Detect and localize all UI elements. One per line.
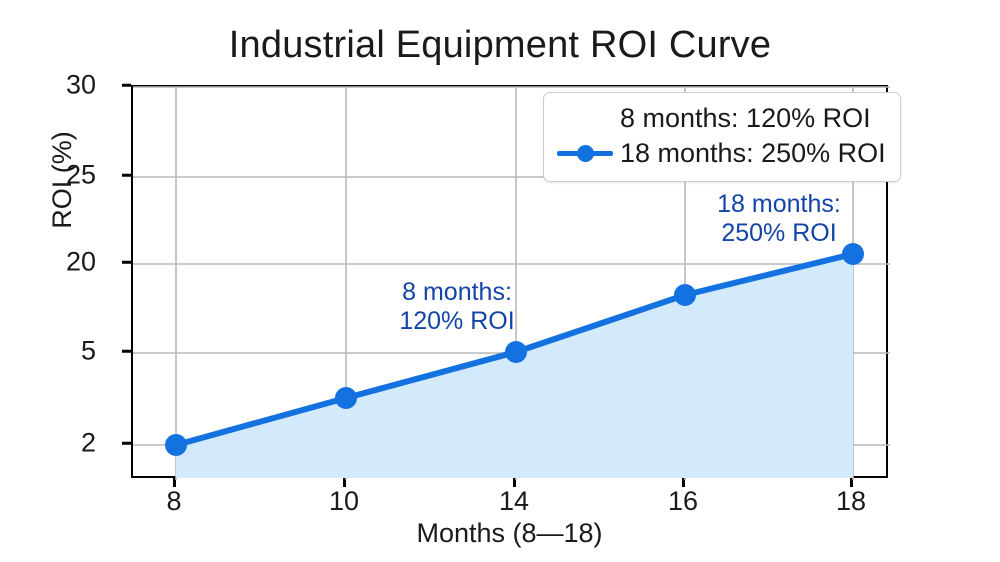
y-tick-mark-20 (122, 261, 131, 264)
x-tick-label-14: 14 (454, 486, 574, 517)
y-tick-label-5: 5 (0, 336, 112, 367)
data-point-16[interactable] (674, 284, 696, 306)
x-tick-label-8: 8 (114, 486, 234, 517)
y-axis-title-wrapper: ROI (%) (42, 80, 82, 280)
data-point-14[interactable] (505, 341, 527, 363)
y-tick-mark-30 (122, 84, 131, 87)
chart-title: Industrial Equipment ROI Curve (0, 24, 1000, 67)
legend-item-1[interactable]: 18 months: 250% ROI (554, 136, 886, 171)
y-axis-title: ROI (%) (47, 131, 78, 229)
y-tick-mark-5 (122, 350, 131, 353)
chart-figure: Industrial Equipment ROI Curve 30 25 20 … (0, 0, 1000, 562)
x-tick-label-10: 10 (284, 486, 404, 517)
legend-handle-line-marker-icon (554, 141, 616, 167)
annotation-8-months: 8 months: 120% ROI (399, 278, 514, 336)
legend-handle-blank (554, 106, 616, 132)
annotation-18-months: 18 months: 250% ROI (717, 190, 841, 248)
data-point-8[interactable] (165, 434, 187, 456)
y-tick-label-2: 2 (0, 428, 112, 459)
legend-item-0[interactable]: 8 months: 120% ROI (554, 101, 886, 136)
chart-legend: 8 months: 120% ROI 18 months: 250% ROI (543, 92, 901, 182)
data-point-18[interactable] (842, 243, 864, 265)
x-tick-label-16: 16 (623, 486, 743, 517)
x-axis-title: Months (8—18) (131, 518, 888, 549)
data-point-10[interactable] (335, 387, 357, 409)
y-tick-mark-25 (122, 174, 131, 177)
y-tick-mark-2 (122, 442, 131, 445)
legend-label-0: 8 months: 120% ROI (616, 103, 871, 134)
legend-label-1: 18 months: 250% ROI (616, 138, 886, 169)
x-tick-label-18: 18 (791, 486, 911, 517)
